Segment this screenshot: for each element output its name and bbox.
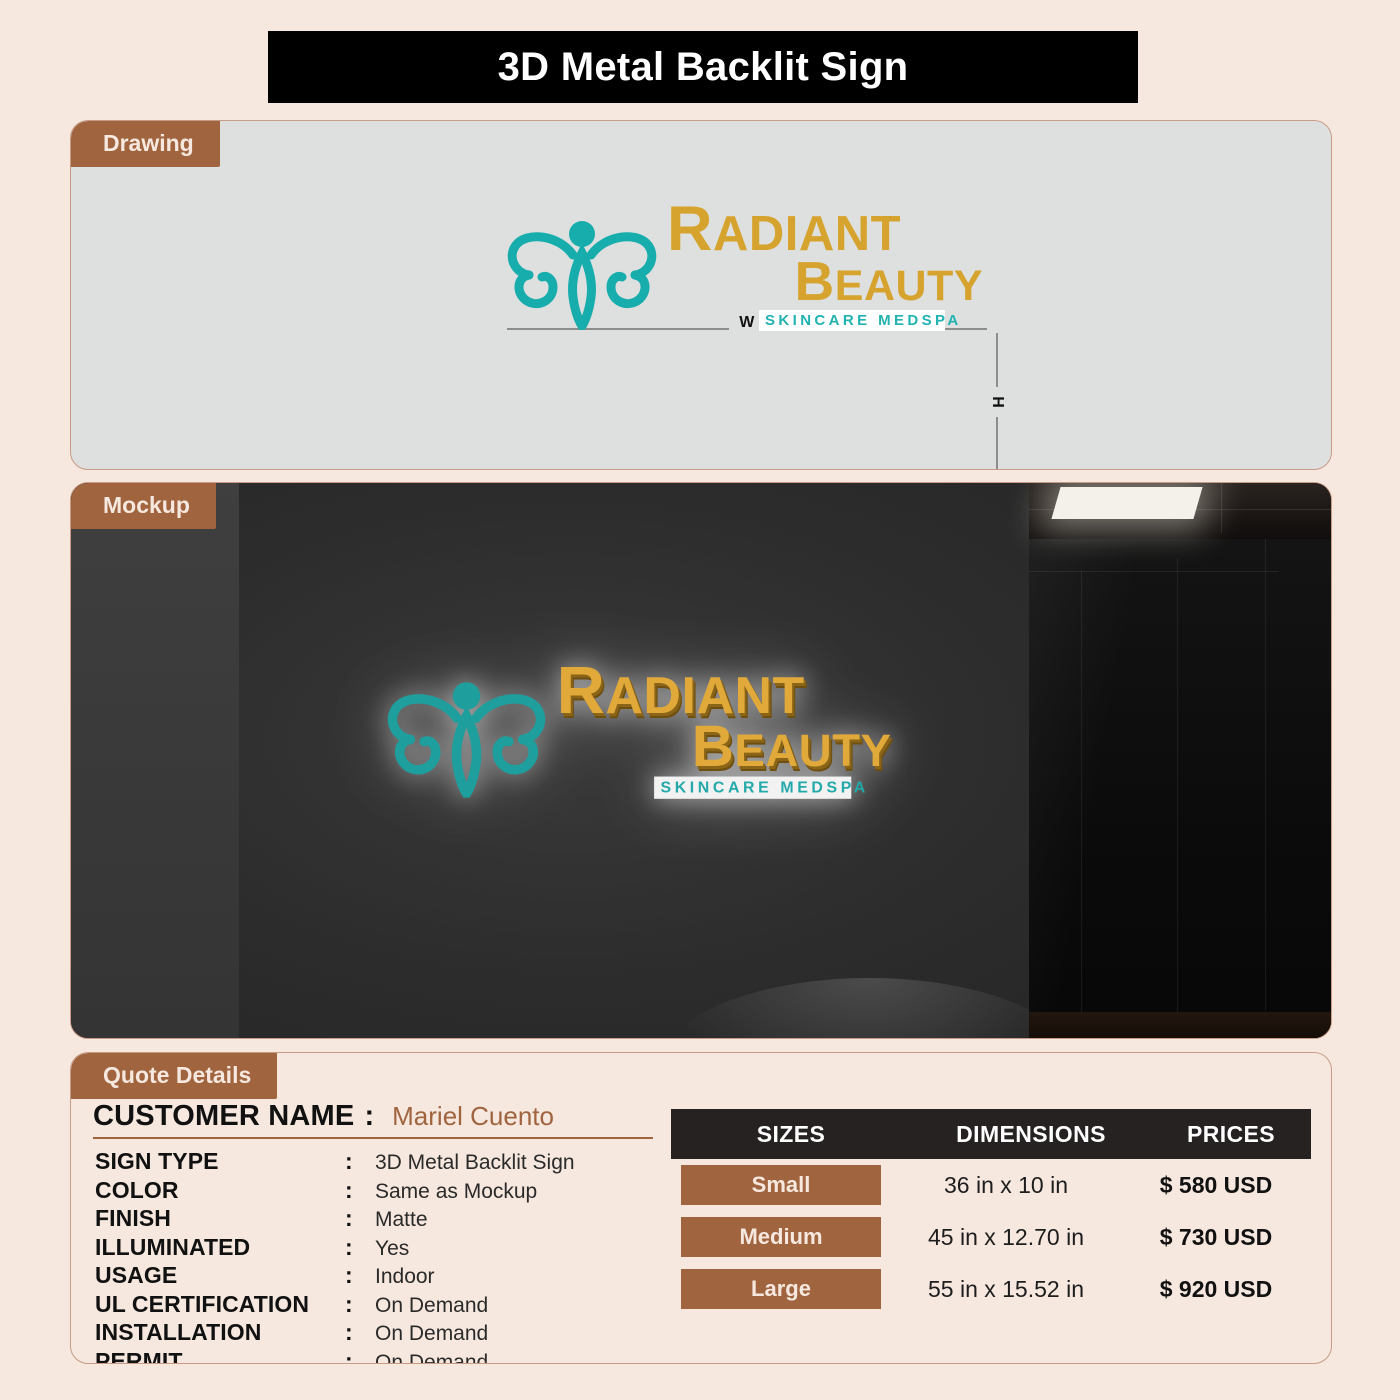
page-title: 3D Metal Backlit Sign xyxy=(498,45,909,90)
height-dimension-line: H xyxy=(996,333,998,470)
spec-colon: : xyxy=(345,1205,375,1232)
left-wall xyxy=(71,483,239,1038)
drawing-logo: RADIANT BEAUTY SKINCARE MEDSPA xyxy=(507,201,987,381)
height-marker-label: H xyxy=(988,396,1006,408)
quote-details-panel: Quote Details CUSTOMER NAME : Mariel Cue… xyxy=(70,1052,1332,1364)
price-cell: $ 580 USD xyxy=(1131,1172,1301,1199)
spec-value: Same as Mockup xyxy=(375,1180,537,1204)
panel-seam xyxy=(1177,559,1178,1029)
height-line-top xyxy=(996,333,998,387)
mockup-panel: Mockup xyxy=(70,482,1332,1039)
hallway-panels xyxy=(1029,501,1331,1038)
quote-details-tab-label: Quote Details xyxy=(71,1053,277,1099)
spec-colon: : xyxy=(345,1291,375,1318)
drawing-stage: W H xyxy=(71,121,1331,469)
floor-glow xyxy=(659,978,1079,1038)
spec-key: UL CERTIFICATION xyxy=(95,1291,345,1318)
drawing-tab-label: Drawing xyxy=(71,121,220,167)
logo-line-beauty: BEAUTY xyxy=(667,255,987,307)
butterfly-logo-icon xyxy=(507,215,657,330)
size-badge: Medium xyxy=(681,1217,881,1257)
spec-colon: : xyxy=(345,1348,375,1365)
spec-row: COLOR : Same as Mockup xyxy=(95,1177,675,1206)
spec-row: USAGE : Indoor xyxy=(95,1262,675,1291)
customer-name-colon: : xyxy=(364,1100,374,1133)
spec-key: COLOR xyxy=(95,1177,345,1204)
table-row: Large 55 in x 15.52 in $ 920 USD xyxy=(671,1263,1311,1315)
logo-wordmark: RADIANT BEAUTY SKINCARE MEDSPA xyxy=(667,201,987,331)
spec-value: 3D Metal Backlit Sign xyxy=(375,1151,575,1175)
pricing-table: SIZES DIMENSIONS PRICES Small 36 in x 10… xyxy=(671,1109,1311,1315)
dimensions-cell: 55 in x 15.52 in xyxy=(881,1276,1131,1303)
spec-key: PERMIT xyxy=(95,1348,345,1365)
column-header-sizes: SIZES xyxy=(671,1121,911,1148)
panel-seam-horizontal xyxy=(1029,571,1279,572)
table-row: Medium 45 in x 12.70 in $ 730 USD xyxy=(671,1211,1311,1263)
logo-wordmark: RADIANT BEAUTY SKINCARE MEDSPA xyxy=(557,661,896,799)
column-header-dimensions: DIMENSIONS xyxy=(911,1121,1151,1148)
spec-colon: : xyxy=(345,1319,375,1346)
logo-tagline: SKINCARE MEDSPA xyxy=(759,310,945,331)
spec-value: Indoor xyxy=(375,1265,435,1289)
price-cell: $ 920 USD xyxy=(1131,1276,1301,1303)
spec-value: On Demand xyxy=(375,1322,488,1346)
size-badge: Large xyxy=(681,1269,881,1309)
spec-value: On Demand xyxy=(375,1294,488,1318)
butterfly-logo-icon xyxy=(387,676,546,798)
spec-value: On Demand xyxy=(375,1351,488,1365)
ceiling-light-panel xyxy=(1051,487,1202,519)
size-badge: Small xyxy=(681,1165,881,1205)
panel-seam xyxy=(1081,571,1082,1031)
spec-colon: : xyxy=(345,1148,375,1175)
spec-row: UL CERTIFICATION : On Demand xyxy=(95,1291,675,1320)
spec-key: USAGE xyxy=(95,1262,345,1289)
spec-row: INSTALLATION : On Demand xyxy=(95,1319,675,1348)
spec-key: ILLUMINATED xyxy=(95,1234,345,1261)
pricing-table-header: SIZES DIMENSIONS PRICES xyxy=(671,1109,1311,1159)
spec-row: PERMIT : On Demand xyxy=(95,1348,675,1365)
floor xyxy=(1029,1012,1331,1038)
dimensions-cell: 36 in x 10 in xyxy=(881,1172,1131,1199)
customer-name-label: CUSTOMER NAME xyxy=(93,1100,354,1133)
spec-row: FINISH : Matte xyxy=(95,1205,675,1234)
spec-list: SIGN TYPE : 3D Metal Backlit Sign COLOR … xyxy=(95,1148,675,1364)
spec-row: ILLUMINATED : Yes xyxy=(95,1234,675,1263)
spec-colon: : xyxy=(345,1234,375,1261)
table-row: Small 36 in x 10 in $ 580 USD xyxy=(671,1159,1311,1211)
spec-colon: : xyxy=(345,1177,375,1204)
butterfly-head-dot xyxy=(453,682,481,710)
spec-key: INSTALLATION xyxy=(95,1319,345,1346)
mockup-room-photo: RADIANT BEAUTY SKINCARE MEDSPA xyxy=(71,483,1331,1038)
column-header-prices: PRICES xyxy=(1151,1121,1311,1148)
spec-key: FINISH xyxy=(95,1205,345,1232)
spec-key: SIGN TYPE xyxy=(95,1148,345,1175)
spec-value: Matte xyxy=(375,1208,428,1232)
customer-name-value: Mariel Cuento xyxy=(392,1101,554,1132)
price-cell: $ 730 USD xyxy=(1131,1224,1301,1251)
spec-row: SIGN TYPE : 3D Metal Backlit Sign xyxy=(95,1148,675,1177)
dimensions-cell: 45 in x 12.70 in xyxy=(881,1224,1131,1251)
butterfly-head-dot xyxy=(569,221,595,247)
height-line-bottom xyxy=(996,417,998,470)
title-banner: 3D Metal Backlit Sign xyxy=(268,31,1138,103)
panel-seam xyxy=(1265,531,1266,1011)
ceiling-grid-line xyxy=(1221,483,1222,533)
spec-value: Yes xyxy=(375,1237,409,1261)
mockup-sign-logo: RADIANT BEAUTY SKINCARE MEDSPA xyxy=(387,661,927,831)
spec-colon: : xyxy=(345,1262,375,1289)
customer-name-row: CUSTOMER NAME : Mariel Cuento xyxy=(93,1100,653,1139)
drawing-panel: Drawing W H xyxy=(70,120,1332,470)
mockup-tab-label: Mockup xyxy=(71,483,216,529)
logo-line-beauty: BEAUTY xyxy=(557,718,896,773)
logo-tagline: SKINCARE MEDSPA xyxy=(654,777,851,799)
